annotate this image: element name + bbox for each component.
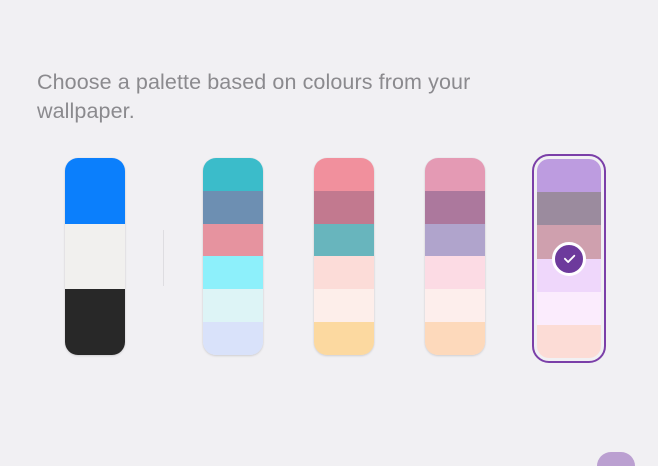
palette-swatch-band (203, 224, 263, 257)
palette-swatch-band (314, 158, 374, 191)
palette-swatch-band (537, 159, 601, 192)
palette-swatch-band (203, 322, 263, 355)
palette-swatch-band (65, 289, 125, 355)
palette-swatch-band (314, 191, 374, 224)
check-circle-icon (552, 242, 586, 276)
palette-option-teal[interactable] (203, 158, 263, 355)
palette-swatch-band (537, 325, 601, 358)
palette-swatch-band (425, 191, 485, 224)
palette-swatch-band (65, 224, 125, 290)
palette-swatch-band (203, 158, 263, 191)
palette-swatch-band (425, 322, 485, 355)
palette-swatch-band (314, 289, 374, 322)
palette-swatch-band (203, 191, 263, 224)
palette-swatch-band (425, 158, 485, 191)
palette-option-coral[interactable] (314, 158, 374, 355)
palette-swatch-band (203, 256, 263, 289)
palette-swatch-band (65, 158, 125, 224)
palette-option-basic[interactable] (65, 158, 125, 355)
palette-swatch-band (425, 224, 485, 257)
page-title: Choose a palette based on colours from y… (37, 68, 557, 126)
next-button[interactable] (597, 452, 635, 466)
palette-swatch-band (537, 292, 601, 325)
palette-option-rose[interactable] (425, 158, 485, 355)
palette-swatch-band (314, 322, 374, 355)
palette-swatch-band (314, 256, 374, 289)
palette-option-violet-selected[interactable] (532, 154, 606, 363)
palette-swatch-band (425, 289, 485, 322)
palette-divider (163, 230, 164, 286)
palette-swatch-band (425, 256, 485, 289)
palette-list (0, 158, 658, 358)
palette-swatch-band (203, 289, 263, 322)
palette-swatch-band (537, 192, 601, 225)
palette-swatch-band (314, 224, 374, 257)
wallpaper-palette-screen: Choose a palette based on colours from y… (0, 0, 658, 457)
